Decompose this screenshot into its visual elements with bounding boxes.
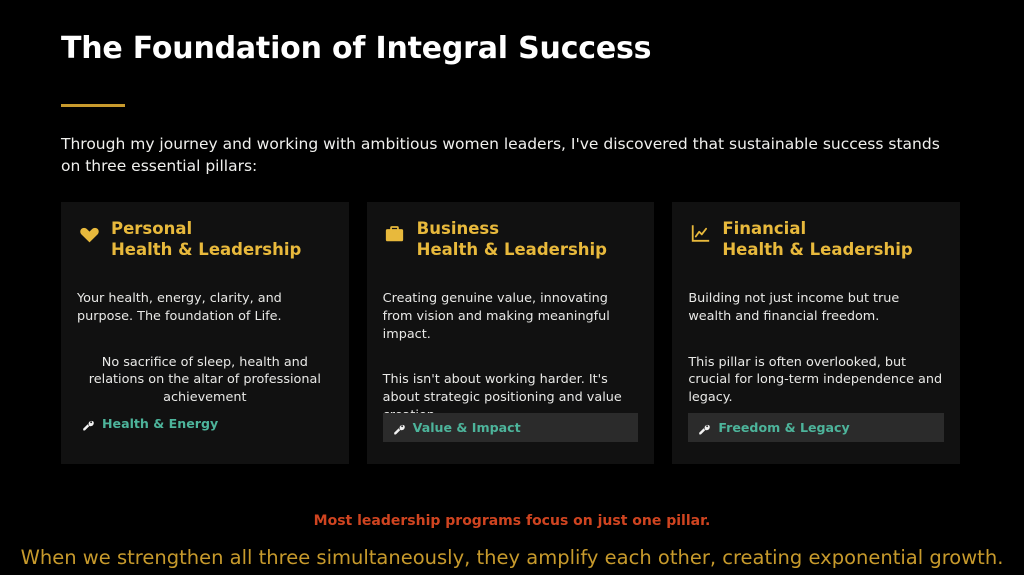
key-icon <box>697 421 711 435</box>
page-title: The Foundation of Integral Success <box>61 31 651 66</box>
card-title-line2: Health & Leadership <box>417 239 607 260</box>
intro-paragraph: Through my journey and working with ambi… <box>61 133 951 177</box>
heart-icon <box>77 218 101 248</box>
card-badge[interactable]: Freedom & Legacy <box>688 413 944 442</box>
footer-highlight-text: When we strengthen all three simultaneou… <box>0 546 1024 569</box>
key-icon <box>392 421 406 435</box>
pillar-card-personal[interactable]: Personal Health & Leadership Your health… <box>61 202 349 464</box>
card-paragraph-1: Your health, energy, clarity, and purpos… <box>77 290 333 325</box>
slide-root: The Foundation of Integral Success Throu… <box>0 0 1024 575</box>
card-header: Personal Health & Leadership <box>61 202 349 260</box>
card-paragraph-1: Creating genuine value, innovating from … <box>383 290 639 343</box>
card-paragraph-2: No sacrifice of sleep, health and relati… <box>77 354 333 407</box>
card-body: Building not just income but true wealth… <box>672 290 960 406</box>
pillar-card-business[interactable]: Business Health & Leadership Creating ge… <box>367 202 655 464</box>
card-heading: Financial Health & Leadership <box>722 218 912 260</box>
line-chart-icon <box>688 218 712 248</box>
title-divider <box>61 104 125 107</box>
card-badge-label: Freedom & Legacy <box>718 420 849 435</box>
card-title-line1: Personal <box>111 219 192 238</box>
card-paragraph-1: Building not just income but true wealth… <box>688 290 944 325</box>
card-title-line1: Business <box>417 219 499 238</box>
card-header: Business Health & Leadership <box>367 202 655 260</box>
footer-warning-text: Most leadership programs focus on just o… <box>0 513 1024 529</box>
card-badge[interactable]: Health & Energy <box>81 409 333 438</box>
card-body: Creating genuine value, innovating from … <box>367 290 655 424</box>
card-paragraph-2: This pillar is often overlooked, but cru… <box>688 354 944 407</box>
pillar-card-list: Personal Health & Leadership Your health… <box>61 202 960 464</box>
card-title-line1: Financial <box>722 219 806 238</box>
card-badge-label: Health & Energy <box>102 416 218 431</box>
briefcase-icon <box>383 218 407 248</box>
card-title-line2: Health & Leadership <box>722 239 912 260</box>
card-badge-label: Value & Impact <box>413 420 521 435</box>
card-body: Your health, energy, clarity, and purpos… <box>61 290 349 406</box>
card-heading: Personal Health & Leadership <box>111 218 301 260</box>
card-title-line2: Health & Leadership <box>111 239 301 260</box>
key-icon <box>81 417 95 431</box>
card-heading: Business Health & Leadership <box>417 218 607 260</box>
card-badge[interactable]: Value & Impact <box>383 413 639 442</box>
card-header: Financial Health & Leadership <box>672 202 960 260</box>
pillar-card-financial[interactable]: Financial Health & Leadership Building n… <box>672 202 960 464</box>
